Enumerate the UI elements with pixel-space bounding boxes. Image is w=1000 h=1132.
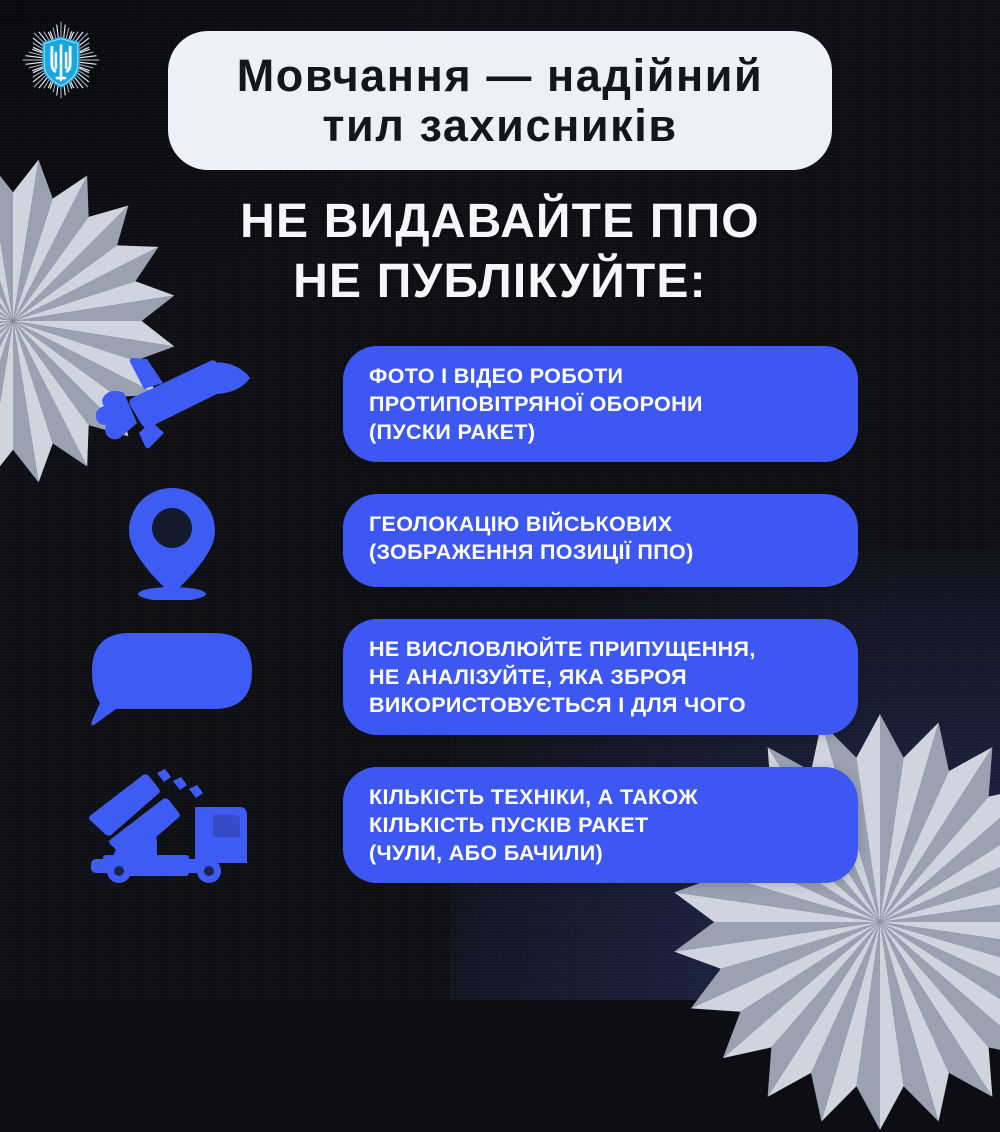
list-item: КІЛЬКІСТЬ ТЕХНІКИ, А ТАКОЖ КІЛЬКІСТЬ ПУС… [0,751,1000,899]
list-item: ФОТО І ВІДЕО РОБОТИ ПРОТИПОВІТРЯНОЇ ОБОР… [0,330,1000,478]
title-card: Мовчання — надійний тил захисників [168,31,832,170]
list-item-icon-slot [0,767,343,883]
list-item-text: ФОТО І ВІДЕО РОБОТИ ПРОТИПОВІТРЯНОЇ ОБОР… [343,346,858,462]
location-pin-shadow [138,587,206,600]
list-item-icon-slot [0,482,343,600]
warning-items-list: ФОТО І ВІДЕО РОБОТИ ПРОТИПОВІТРЯНОЇ ОБОР… [0,330,1000,899]
list-item-text: НЕ ВИСЛОВЛЮЙТЕ ПРИПУЩЕННЯ, НЕ АНАЛІЗУЙТЕ… [343,619,858,735]
list-item-text: КІЛЬКІСТЬ ТЕХНІКИ, А ТАКОЖ КІЛЬКІСТЬ ПУС… [343,767,858,883]
list-item: НЕ ВИСЛОВЛЮЙТЕ ПРИПУЩЕННЯ, НЕ АНАЛІЗУЙТЕ… [0,603,1000,751]
poster-headline: НЕ ВИДАВАЙТЕ ППО НЕ ПУБЛІКУЙТЕ: [0,192,1000,313]
ukrainian-police-emblem-icon [22,16,100,104]
location-pin-icon [112,482,232,600]
location-pin-hole [152,508,192,548]
poster-title: Мовчання — надійний тил захисників [211,51,790,151]
list-item-icon-slot [0,349,343,459]
missile-icon [72,349,272,459]
list-item: ГЕОЛОКАЦІЮ ВІЙСЬКОВИХ (ЗОБРАЖЕННЯ ПОЗИЦІ… [0,478,1000,603]
missile-launcher-truck-icon [77,767,267,883]
list-item-text: ГЕОЛОКАЦІЮ ВІЙСЬКОВИХ (ЗОБРАЖЕННЯ ПОЗИЦІ… [343,494,858,587]
list-item-icon-slot [0,625,343,729]
speech-bubble-icon [86,625,258,729]
